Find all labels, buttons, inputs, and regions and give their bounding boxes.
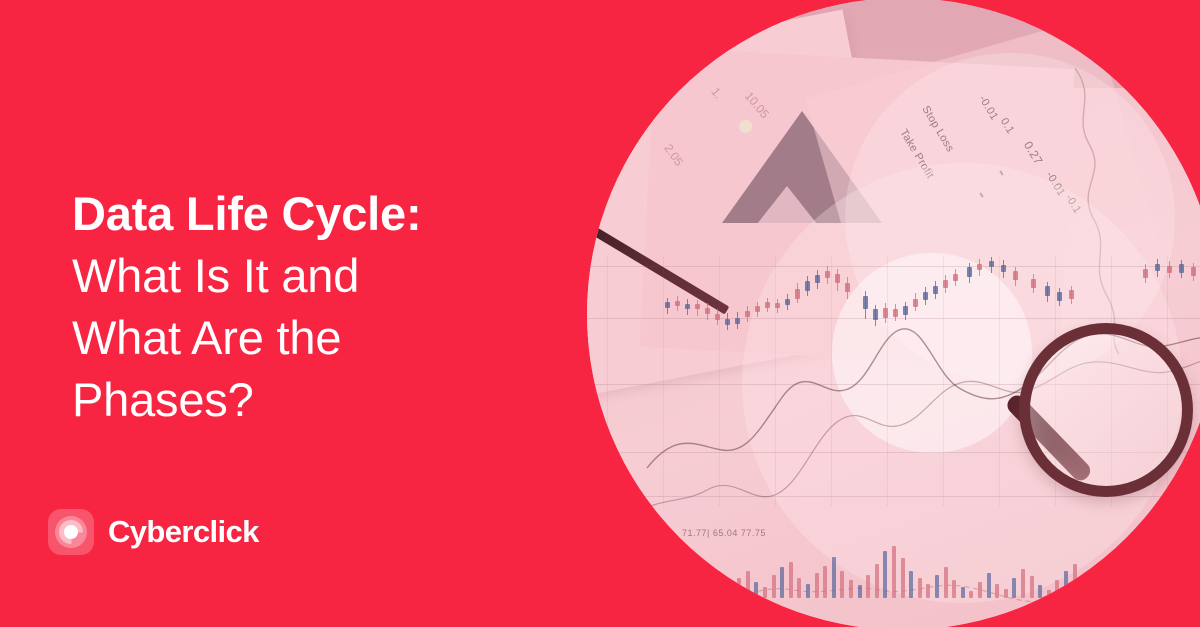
volume-bar	[978, 582, 982, 598]
volume-bar	[823, 566, 827, 598]
magnifying-glass-icon	[1019, 323, 1193, 497]
volume-bar	[901, 558, 905, 598]
volume-bar	[935, 575, 939, 598]
volume-bar	[737, 578, 741, 598]
volume-bar	[1176, 587, 1180, 598]
volume-bar	[729, 584, 733, 598]
volume-bar	[1159, 567, 1163, 598]
volume-bar	[797, 578, 801, 598]
content-column: Data Life Cycle: What Is It and What Are…	[0, 0, 600, 627]
volume-bar	[987, 573, 991, 598]
volume-bar	[1038, 585, 1042, 598]
volume-bar	[1141, 585, 1145, 598]
volume-bar	[969, 591, 973, 598]
brand-name: Cyberclick	[108, 514, 259, 550]
volume-bar	[944, 567, 948, 598]
volume-bar	[1021, 569, 1025, 598]
volume-bar	[926, 584, 930, 598]
magnifier-lens	[1030, 334, 1182, 486]
volume-bar	[1047, 590, 1051, 598]
volume-bar	[918, 578, 922, 598]
page-title: Data Life Cycle: What Is It and What Are…	[72, 183, 542, 431]
headline-line-2: What Is It and	[72, 245, 542, 307]
volume-bar	[832, 557, 836, 598]
volume-bar	[1004, 589, 1008, 598]
volume-bar	[711, 586, 715, 598]
headline-line-4: Phases?	[72, 369, 542, 431]
hero-photo: 1. 10.05 2.05 Stop Loss Take Profit -0.0…	[587, 0, 1200, 627]
volume-bar	[909, 571, 913, 598]
volume-bar	[806, 584, 810, 598]
logo-dot	[64, 525, 78, 539]
volume-bar	[961, 587, 965, 598]
volume-bar	[815, 573, 819, 598]
volume-bar	[1098, 587, 1102, 598]
volume-bar	[952, 580, 956, 598]
cyberclick-mark-icon	[48, 509, 94, 555]
volume-bar	[694, 582, 698, 598]
volume-bars: 71.77| 65.04 77.75	[587, 540, 1200, 598]
volume-bar	[840, 571, 844, 598]
volume-bar	[995, 584, 999, 598]
volume-bar	[780, 567, 784, 598]
volume-bar	[883, 551, 887, 598]
volume-bar	[677, 585, 681, 598]
volume-bar	[1150, 576, 1154, 598]
volume-bar	[1081, 575, 1085, 598]
volume-bar	[866, 575, 870, 598]
volume-axis-text: 71.77| 65.04 77.75	[682, 528, 766, 538]
headline-line-1: Data Life Cycle:	[72, 183, 542, 245]
volume-bar	[1090, 582, 1094, 598]
volume-bar	[1055, 580, 1059, 598]
volume-bar	[720, 590, 724, 598]
volume-bar	[1133, 589, 1137, 598]
volume-bar	[754, 582, 758, 598]
volume-bar	[892, 546, 896, 598]
volume-bar	[772, 575, 776, 598]
volume-bar	[875, 564, 879, 598]
promo-banner: 1. 10.05 2.05 Stop Loss Take Profit -0.0…	[0, 0, 1200, 627]
volume-bar	[1012, 578, 1016, 598]
volume-bar	[1167, 580, 1171, 598]
volume-bar	[686, 589, 690, 598]
volume-bar	[849, 580, 853, 598]
volume-bar	[746, 571, 750, 598]
moving-average-line	[587, 0, 1200, 627]
volume-bar	[1064, 571, 1068, 598]
volume-bar	[1073, 564, 1077, 598]
volume-bar	[1184, 591, 1188, 598]
volume-bar	[1107, 578, 1111, 598]
volume-bar	[1116, 573, 1120, 598]
volume-bar	[789, 562, 793, 598]
volume-bar	[763, 587, 767, 598]
volume-bar	[703, 576, 707, 598]
volume-bar	[1124, 584, 1128, 598]
volume-bar	[858, 585, 862, 598]
headline-line-3: What Are the	[72, 307, 542, 369]
volume-bar	[1030, 576, 1034, 598]
brand-logo[interactable]: Cyberclick	[48, 509, 259, 555]
